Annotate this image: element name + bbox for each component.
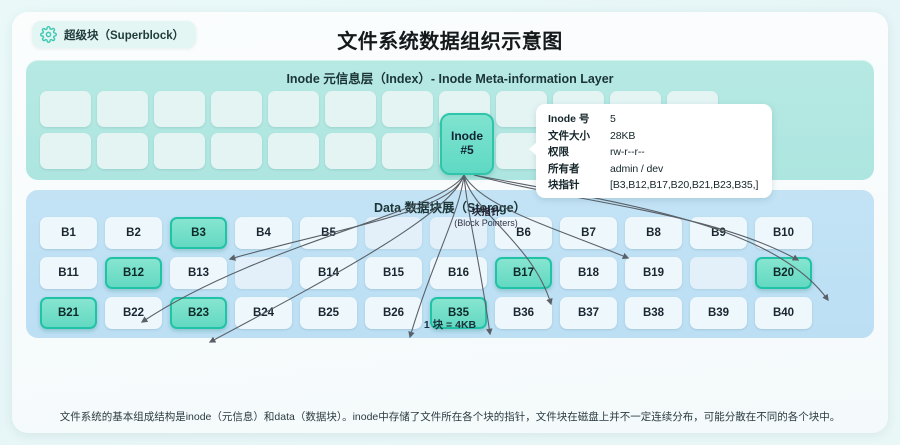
inode-node-line2: #5 bbox=[460, 144, 473, 158]
inode-slot bbox=[268, 91, 319, 127]
data-block[interactable]: B14 bbox=[300, 257, 357, 289]
inode-meta-row: Inode 号5 bbox=[548, 111, 762, 128]
footer-note: 文件系统的基本组成结构是inode（元信息）和data（数据块）。inode中存… bbox=[12, 409, 888, 424]
inode-meta-key: 所有者 bbox=[548, 161, 610, 178]
inode-meta-row: 权限rw-r--r-- bbox=[548, 144, 762, 161]
inode-slot bbox=[382, 133, 433, 169]
inode-meta-key: 块指针 bbox=[548, 177, 610, 194]
inode-meta-value: 5 bbox=[610, 111, 762, 128]
inode-meta-row: 块指针[B3,B12,B17,B20,B21,B23,B35,] bbox=[548, 177, 762, 194]
data-block[interactable]: B8 bbox=[625, 217, 682, 249]
inode-meta-row: 文件大小28KB bbox=[548, 128, 762, 145]
inode-slot bbox=[97, 91, 148, 127]
data-block-empty bbox=[690, 257, 747, 289]
inode-meta-key: 文件大小 bbox=[548, 128, 610, 145]
data-block[interactable]: B13 bbox=[170, 257, 227, 289]
data-block[interactable]: B10 bbox=[755, 217, 812, 249]
block-pointer-label: 块指针 (Block Pointers) bbox=[416, 204, 556, 228]
inode-slot bbox=[97, 133, 148, 169]
data-block[interactable]: B11 bbox=[40, 257, 97, 289]
inode-meta-value: [B3,B12,B17,B20,B21,B23,B35,] bbox=[610, 177, 762, 194]
data-block[interactable]: B4 bbox=[235, 217, 292, 249]
data-block-empty bbox=[235, 257, 292, 289]
data-block[interactable]: B15 bbox=[365, 257, 422, 289]
data-block-grid: B1B2B3B4B5B6B7B8B9B10B11B12B13B14B15B16B… bbox=[40, 217, 812, 329]
inode-detail-panel: Inode 号5文件大小28KB权限rw-r--r--所有者admin / de… bbox=[536, 104, 772, 198]
inode-meta-key: 权限 bbox=[548, 144, 610, 161]
inode-slot bbox=[40, 91, 91, 127]
block-pointer-label-cn: 块指针 bbox=[416, 204, 556, 218]
inode-slot bbox=[325, 133, 376, 169]
data-block[interactable]: B5 bbox=[300, 217, 357, 249]
inode-meta-row: 所有者admin / dev bbox=[548, 161, 762, 178]
inode-slot bbox=[211, 91, 262, 127]
data-block-empty bbox=[365, 217, 422, 249]
inode-meta-key: Inode 号 bbox=[548, 111, 610, 128]
inode-slot bbox=[382, 91, 433, 127]
inode-meta-value: admin / dev bbox=[610, 161, 762, 178]
inode-slot bbox=[325, 91, 376, 127]
data-block[interactable]: B20 bbox=[755, 257, 812, 289]
data-block[interactable]: B19 bbox=[625, 257, 682, 289]
data-block[interactable]: B2 bbox=[105, 217, 162, 249]
data-block[interactable]: B9 bbox=[690, 217, 747, 249]
data-block[interactable]: B16 bbox=[430, 257, 487, 289]
data-block[interactable]: B12 bbox=[105, 257, 162, 289]
diagram-card: 超级块（Superblock） 文件系统数据组织示意图 Inode 元信息层（I… bbox=[12, 12, 888, 433]
data-block[interactable]: B17 bbox=[495, 257, 552, 289]
block-pointer-label-en: (Block Pointers) bbox=[416, 218, 556, 228]
data-block[interactable]: B7 bbox=[560, 217, 617, 249]
inode-slot bbox=[154, 133, 205, 169]
inode-slot bbox=[268, 133, 319, 169]
inode-layer-title: Inode 元信息层（Index）- Inode Meta-informatio… bbox=[26, 68, 874, 87]
header: 超级块（Superblock） 文件系统数据组织示意图 bbox=[12, 12, 888, 60]
inode-slot bbox=[211, 133, 262, 169]
block-unit-note: 1 块 = 4KB bbox=[26, 317, 874, 332]
inode-slot bbox=[40, 133, 91, 169]
inode-node[interactable]: Inode #5 bbox=[440, 113, 494, 175]
inode-node-line1: Inode bbox=[451, 130, 483, 144]
inode-meta-value: rw-r--r-- bbox=[610, 144, 762, 161]
diagram-root: 超级块（Superblock） 文件系统数据组织示意图 Inode 元信息层（I… bbox=[0, 0, 900, 445]
page-title: 文件系统数据组织示意图 bbox=[12, 25, 888, 54]
data-block[interactable]: B1 bbox=[40, 217, 97, 249]
data-block[interactable]: B3 bbox=[170, 217, 227, 249]
data-block[interactable]: B18 bbox=[560, 257, 617, 289]
inode-slot bbox=[154, 91, 205, 127]
inode-meta-value: 28KB bbox=[610, 128, 762, 145]
